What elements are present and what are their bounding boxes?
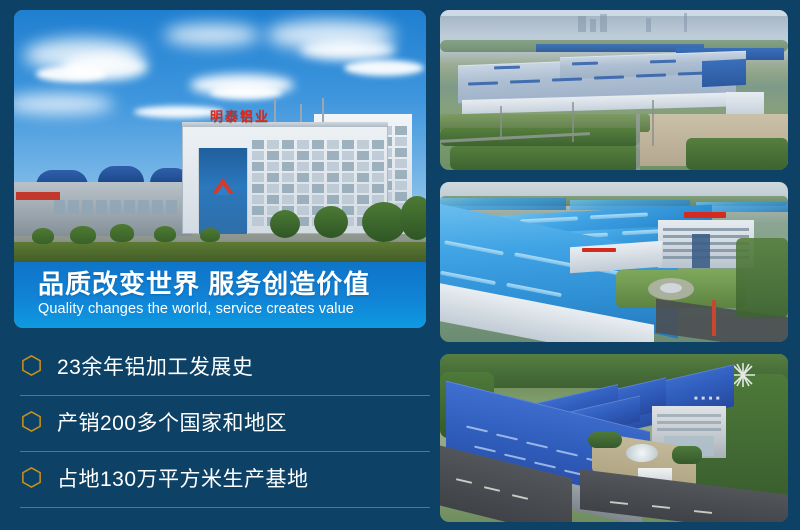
cloud [300, 40, 396, 60]
crane-mast [712, 300, 716, 336]
access-road [636, 114, 640, 170]
industrial-park-rendering[interactable]: ■ ■ ■ ■ [440, 354, 788, 522]
hexagon-bullet-icon [20, 354, 43, 377]
feature-item-2[interactable]: 产销200多个国家和地区 [14, 396, 426, 452]
tower-window [657, 421, 721, 424]
utility-pole [652, 100, 654, 146]
cloud [36, 66, 106, 82]
tree [314, 206, 348, 238]
shed-roof [98, 166, 144, 182]
tower-window [663, 228, 749, 231]
promo-page: 明泰铝业 [0, 0, 800, 530]
planting-bed [672, 446, 702, 464]
treeline [736, 238, 788, 318]
hedge [110, 224, 134, 242]
company-logo-icon [212, 178, 234, 194]
distant-building [646, 18, 651, 32]
treeline [450, 146, 640, 170]
rooftop-sign [684, 212, 726, 218]
cloud [164, 24, 260, 46]
feature-label: 23余年铝加工发展史 [57, 351, 253, 381]
hero-photo-card[interactable]: 明泰铝业 [14, 10, 426, 328]
antenna-mast [322, 98, 324, 122]
hedge [70, 226, 96, 244]
hero-caption-band: 品质改变世界 服务创造价值 Quality changes the world,… [14, 262, 426, 328]
distant-building [684, 13, 687, 32]
feature-item-3[interactable]: 占地130万平方米生产基地 [14, 452, 426, 508]
aerial-blue-roof-plant-photo[interactable] [440, 182, 788, 342]
aerial-factory-complex-photo[interactable] [440, 10, 788, 170]
antenna-mast [274, 100, 276, 122]
tree [400, 196, 426, 240]
planting-bed [588, 432, 622, 448]
fountain [660, 283, 682, 293]
treeline [686, 138, 788, 170]
hazy-skyline [440, 16, 788, 42]
plant-facade [726, 92, 764, 114]
caption-chinese: 品质改变世界 服务创造价值 [38, 269, 426, 299]
tower-entrance [692, 234, 710, 268]
cloud [344, 60, 424, 76]
hedge [32, 228, 54, 244]
distant-building [600, 14, 607, 32]
glass-facade [198, 148, 248, 234]
left-column: 明泰铝业 [14, 10, 426, 522]
caption-english: Quality changes the world, service creat… [38, 300, 426, 319]
utility-pole [572, 102, 574, 142]
distant-building [578, 16, 586, 32]
fountain [626, 444, 658, 462]
facade-sign [582, 248, 616, 252]
utility-pole [500, 106, 502, 140]
feature-list: 23余年铝加工发展史 产销200多个国家和地区 [14, 340, 426, 508]
feature-label: 占地130万平方米生产基地 [57, 463, 309, 493]
feature-divider [20, 507, 430, 508]
feature-item-1[interactable]: 23余年铝加工发展史 [14, 340, 426, 396]
hexagon-bullet-icon [20, 410, 43, 433]
roof-section [702, 59, 746, 87]
tree [270, 210, 300, 238]
park-name-sign: ■ ■ ■ ■ [694, 396, 721, 402]
gallery-column: ■ ■ ■ ■ [440, 10, 788, 522]
shed-windows [54, 200, 177, 214]
rooftop-company-sign: 明泰铝业 [210, 106, 270, 125]
cloud [210, 86, 282, 99]
tower-window [657, 414, 721, 417]
hedge [154, 226, 176, 242]
facade-banner [16, 192, 60, 200]
tower-window [657, 428, 721, 431]
hedge [200, 228, 220, 242]
distant-building [590, 19, 596, 32]
antenna-mast [300, 104, 302, 122]
hexagon-bullet-icon [20, 466, 43, 489]
feature-label: 产销200多个国家和地区 [57, 407, 287, 437]
